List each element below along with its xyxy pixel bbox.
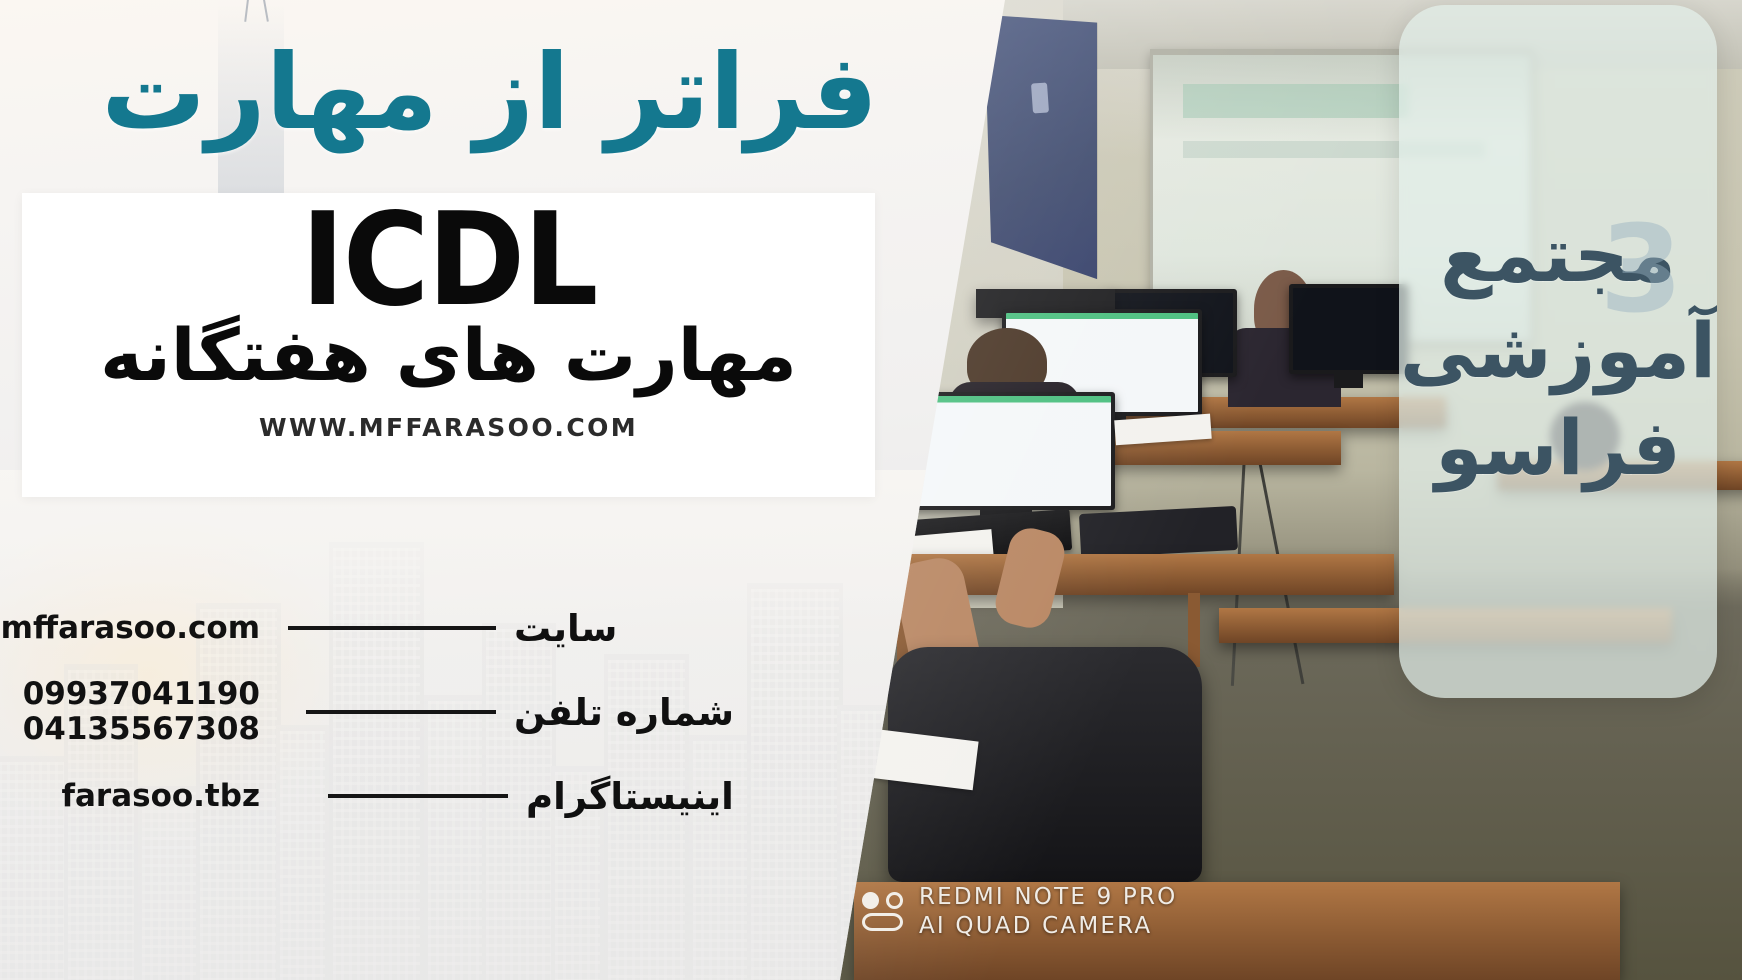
contact-value[interactable]: mffarasoo.com xyxy=(0,611,270,646)
contact-row: mffarasoo.com سایت xyxy=(0,586,790,670)
card-title: ICDL xyxy=(301,197,597,325)
lens-dots-icon xyxy=(862,892,903,909)
camera-watermark: REDMI NOTE 9 PRO AI QUAD CAMERA xyxy=(862,884,1177,939)
watermark-line-1: REDMI NOTE 9 PRO xyxy=(919,884,1177,910)
contact-row: farasoo.tbz اینیستاگرام xyxy=(0,754,790,838)
brand-line-2: آموزشی xyxy=(1400,307,1716,395)
icdl-card: ICDL مهارت های هفتگانه WWW.MFFARASOO.COM xyxy=(22,193,875,497)
contact-value[interactable]: farasoo.tbz xyxy=(0,779,270,814)
contact-label: سایت xyxy=(514,607,617,650)
divider-dash xyxy=(328,794,508,798)
contact-row: 09937041190 04135567308 شماره تلفن xyxy=(0,670,790,754)
website-url: WWW.MFFARASOO.COM xyxy=(259,413,638,442)
monitor xyxy=(1289,284,1407,374)
page-headline: فراتر از مهارت xyxy=(101,38,878,147)
brand-line-1: مجتمع xyxy=(1440,211,1676,299)
contact-list: mffarasoo.com سایت 09937041190 041355673… xyxy=(0,586,790,838)
watermark-text: REDMI NOTE 9 PRO AI QUAD CAMERA xyxy=(919,884,1177,939)
wall-banner xyxy=(984,15,1097,280)
divider-dash xyxy=(306,710,496,714)
poster-canvas: فراتر از مهارت ICDL مهارت های هفتگانه WW… xyxy=(0,0,1742,980)
divider-dash xyxy=(288,626,496,630)
watermark-line-2: AI QUAD CAMERA xyxy=(919,913,1177,939)
brand-line-3: فراسو xyxy=(1435,404,1680,492)
contact-label: شماره تلفن xyxy=(514,691,734,734)
contact-label: اینیستاگرام xyxy=(526,775,734,818)
redmi-logo-icon xyxy=(862,892,903,931)
brand-box: 3 مجتمع آموزشی فراسو xyxy=(1399,5,1717,698)
mouse-pad xyxy=(1079,506,1238,558)
infinity-icon xyxy=(862,913,903,931)
contact-value[interactable]: 09937041190 04135567308 xyxy=(0,677,270,746)
